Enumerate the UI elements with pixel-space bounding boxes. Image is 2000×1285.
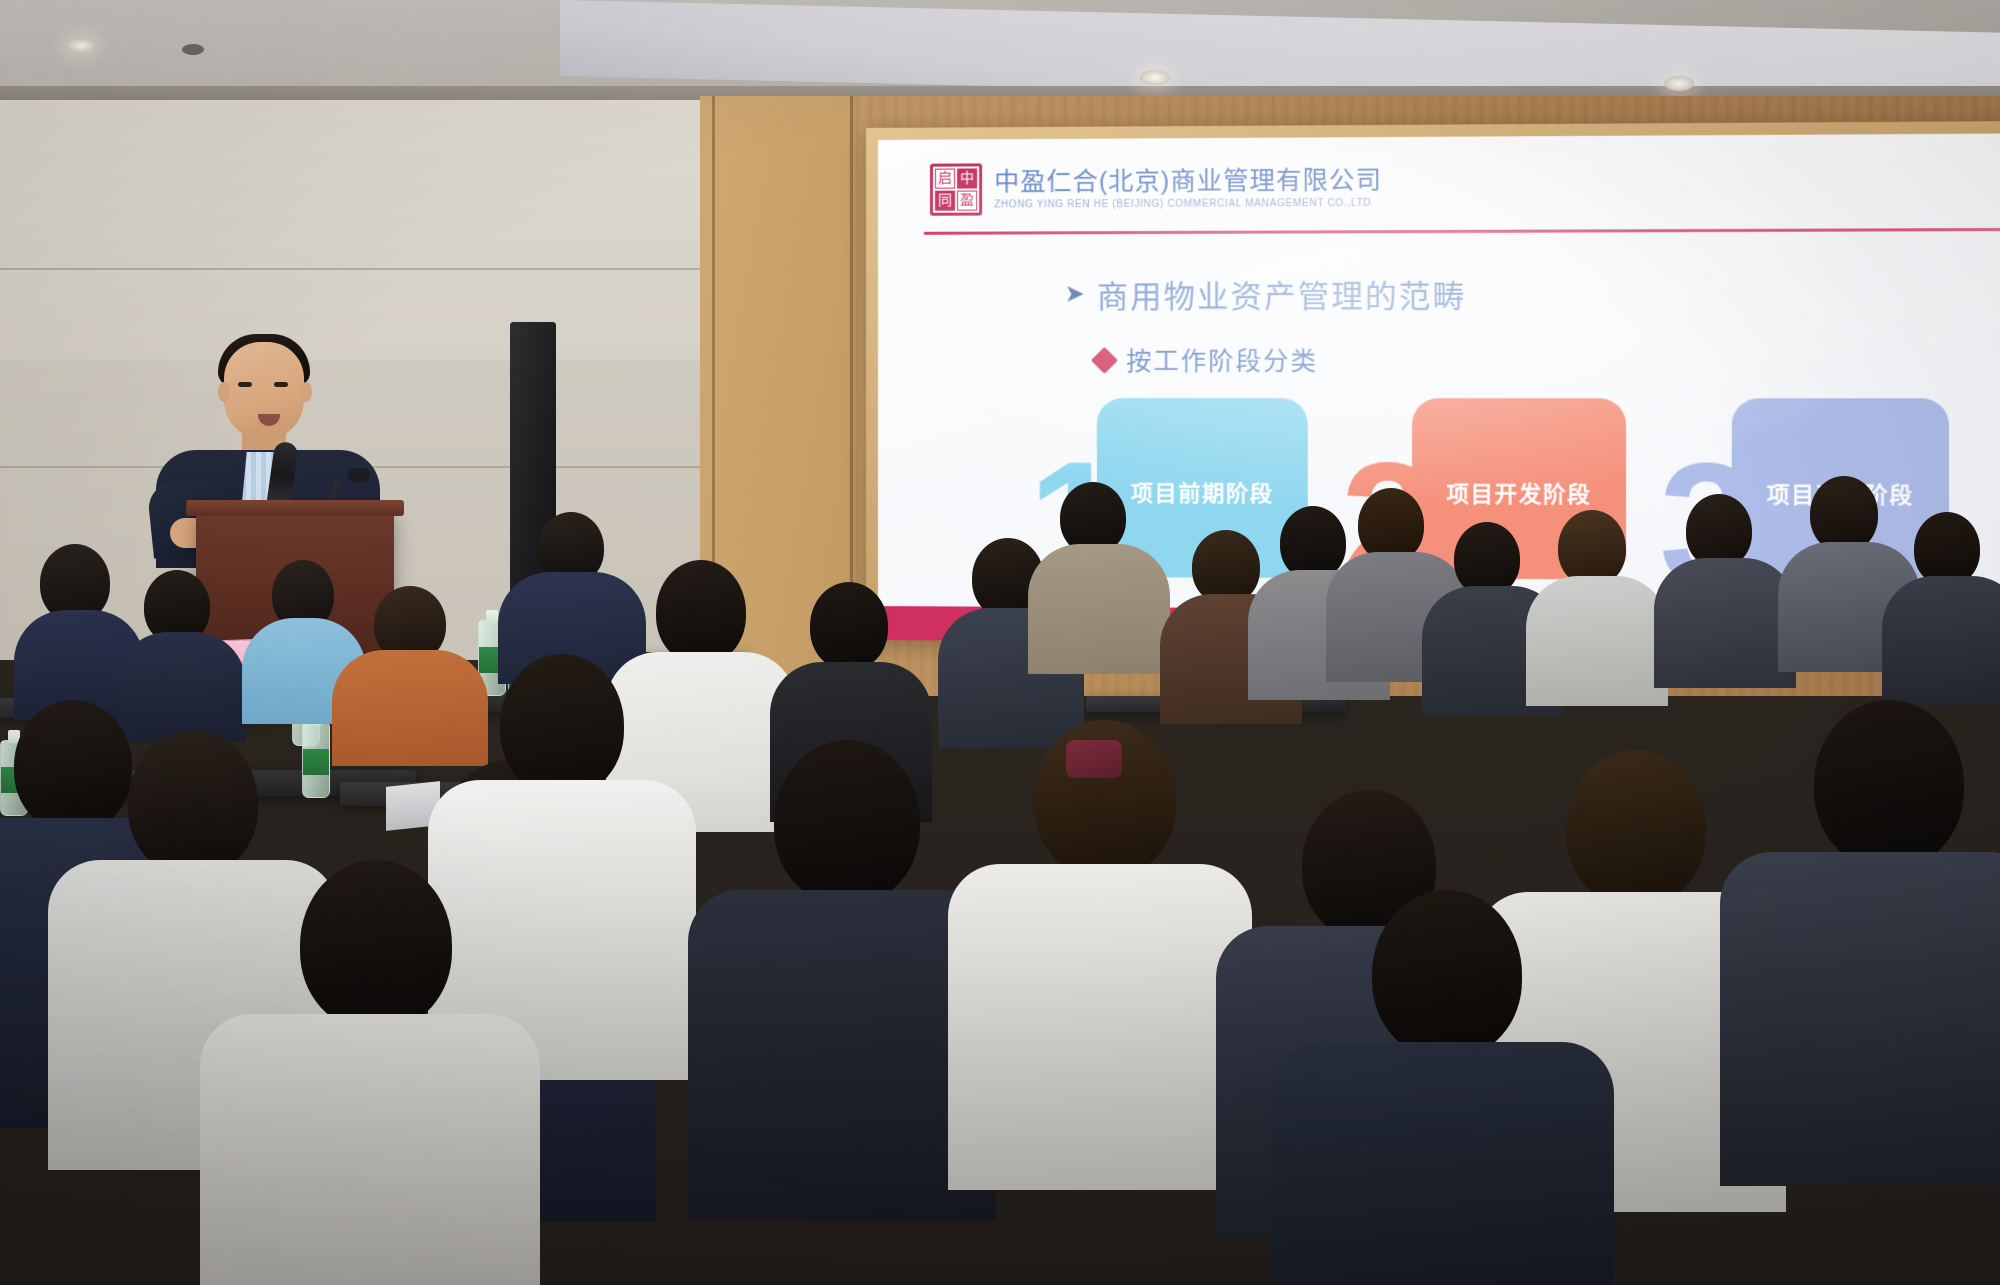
audience-head [1566, 750, 1706, 906]
audience-head [774, 740, 920, 904]
audience-member [1532, 510, 1662, 700]
presenter-ear [218, 382, 230, 402]
audience-member [214, 860, 524, 1285]
gooseneck-mic-icon [348, 468, 370, 482]
audience-head [128, 730, 258, 876]
audience-head [300, 860, 452, 1030]
downlight-icon [66, 38, 96, 53]
presenter-ear [300, 382, 312, 402]
audience-member [1660, 494, 1790, 684]
audience-head [500, 654, 624, 796]
audience-head [810, 582, 888, 670]
audience-body [948, 864, 1252, 1190]
audience-body [1720, 852, 2000, 1186]
audience-body [1028, 544, 1170, 674]
slide-heading-primary: ➤ 商用物业资产管理的范畴 [1065, 270, 1467, 316]
logo-cell: 中 [957, 168, 977, 188]
conference-scene: 启 中 同 盈 中盈仁合(北京)商业管理有限公司 ZHONG YING REN … [0, 0, 2000, 1285]
downlight-icon [1140, 70, 1170, 85]
audience-member [960, 720, 1240, 1160]
arrow-bullet-icon: ➤ [1065, 282, 1087, 306]
company-name-en: ZHONG YING REN HE (BEIJING) COMMERCIAL M… [994, 196, 1382, 211]
audience-head [1814, 700, 1964, 868]
audience-head [1454, 522, 1520, 596]
audience-body [200, 1014, 540, 1285]
audience-head [1372, 890, 1522, 1058]
audience-member [1034, 482, 1164, 672]
slide-heading-secondary-text: 按工作阶段分类 [1126, 342, 1318, 378]
audience-head [1914, 512, 1980, 586]
audience-head [1810, 476, 1878, 552]
downlight-icon [1664, 76, 1694, 91]
company-name-block: 中盈仁合(北京)商业管理有限公司 ZHONG YING REN HE (BEIJ… [994, 166, 1382, 211]
presenter-head [224, 342, 304, 440]
logo-cell: 盈 [957, 191, 977, 211]
audience-member [1730, 700, 2000, 1160]
sprinkler-icon [182, 44, 204, 55]
company-logo-icon: 启 中 同 盈 [930, 163, 982, 215]
hair-clip-icon [1066, 740, 1122, 778]
audience-member [700, 740, 980, 1190]
presenter-eye [274, 382, 288, 387]
audience-head [656, 560, 746, 664]
slide-heading-primary-text: 商用物业资产管理的范畴 [1097, 270, 1466, 316]
audience-body [1270, 1042, 1614, 1285]
audience-member [1888, 512, 2000, 702]
presenter-eye [238, 382, 252, 387]
company-name-cn: 中盈仁合(北京)商业管理有限公司 [994, 166, 1382, 196]
audience-head [1686, 494, 1752, 568]
audience-area [0, 560, 2000, 1285]
slide-heading-secondary: 按工作阶段分类 [1095, 342, 1318, 378]
stage-title-2: 项目开发阶段 [1446, 476, 1591, 509]
diamond-bullet-icon [1091, 346, 1118, 373]
audience-body [1882, 576, 2000, 706]
audience-head [1192, 530, 1260, 604]
audience-head [1558, 510, 1626, 586]
audience-member [1280, 890, 1600, 1285]
audience-body [1526, 576, 1668, 706]
slide-header: 启 中 同 盈 中盈仁合(北京)商业管理有限公司 ZHONG YING REN … [930, 161, 1382, 215]
logo-cell: 启 [935, 169, 955, 189]
audience-body [1654, 558, 1796, 688]
podium-top [186, 500, 404, 516]
audience-head [1358, 488, 1424, 562]
header-divider [924, 228, 2000, 235]
logo-cell: 同 [935, 191, 955, 211]
wall-seam [0, 268, 720, 270]
